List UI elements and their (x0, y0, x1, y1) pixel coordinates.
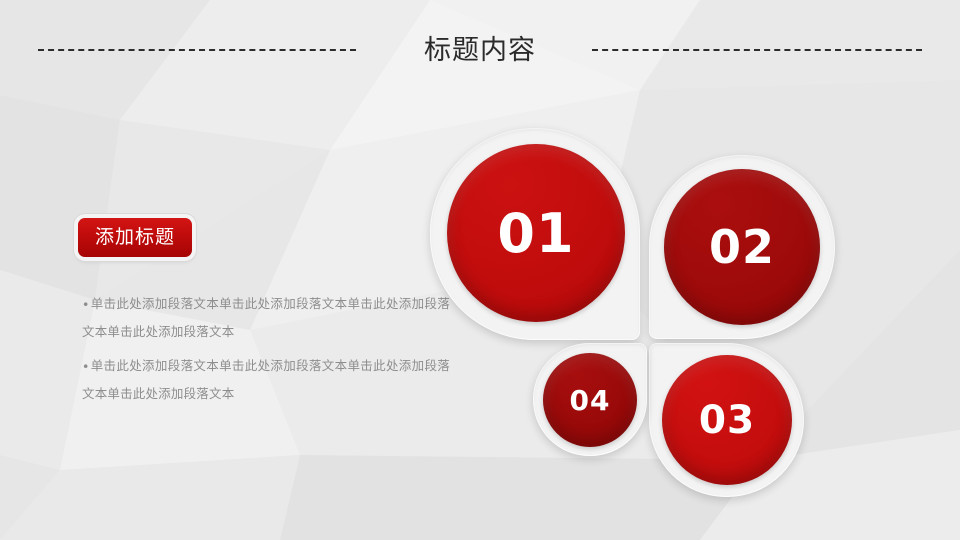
number-disc-03[interactable]: 03 (662, 355, 792, 485)
petal-cluster-diagram: 01 02 03 04 (425, 120, 845, 492)
bullet-icon-1: • (82, 291, 90, 318)
petal-number-04: 04 (570, 384, 611, 417)
petal-shape-02[interactable]: 02 (649, 155, 835, 339)
petal-number-02: 02 (709, 220, 775, 274)
number-disc-02[interactable]: 02 (664, 169, 820, 325)
add-title-badge-label: 添加标题 (95, 226, 175, 248)
petal-shape-03[interactable]: 03 (649, 343, 804, 497)
body-paragraph-2: •单击此处添加段落文本单击此处添加段落文本单击此处添加段落文本单击此处添加段落文… (82, 352, 450, 407)
petal-shape-01[interactable]: 01 (430, 128, 640, 340)
left-content-panel: 添加标题 •单击此处添加段落文本单击此处添加段落文本单击此处添加段落文本单击此处… (78, 218, 450, 257)
petal-shape-04[interactable]: 04 (533, 343, 647, 456)
number-disc-01[interactable]: 01 (447, 144, 625, 322)
page-title: 标题内容 (0, 34, 960, 68)
bullet-icon-2: • (82, 353, 90, 380)
slide-canvas: 标题内容 添加标题 •单击此处添加段落文本单击此处添加段落文本单击此处添加段落文… (0, 0, 960, 540)
body-paragraph-1: •单击此处添加段落文本单击此处添加段落文本单击此处添加段落文本单击此处添加段落文… (82, 290, 450, 345)
petal-number-01: 01 (497, 202, 574, 265)
body-paragraph-1-text: 单击此处添加段落文本单击此处添加段落文本单击此处添加段落文本单击此处添加段落文本 (82, 296, 450, 339)
body-paragraph-2-text: 单击此处添加段落文本单击此处添加段落文本单击此处添加段落文本单击此处添加段落文本 (82, 358, 450, 401)
add-title-badge[interactable]: 添加标题 (78, 218, 192, 257)
slide-header: 标题内容 (0, 18, 960, 74)
petal-number-03: 03 (699, 398, 755, 443)
number-disc-04[interactable]: 04 (543, 353, 637, 447)
